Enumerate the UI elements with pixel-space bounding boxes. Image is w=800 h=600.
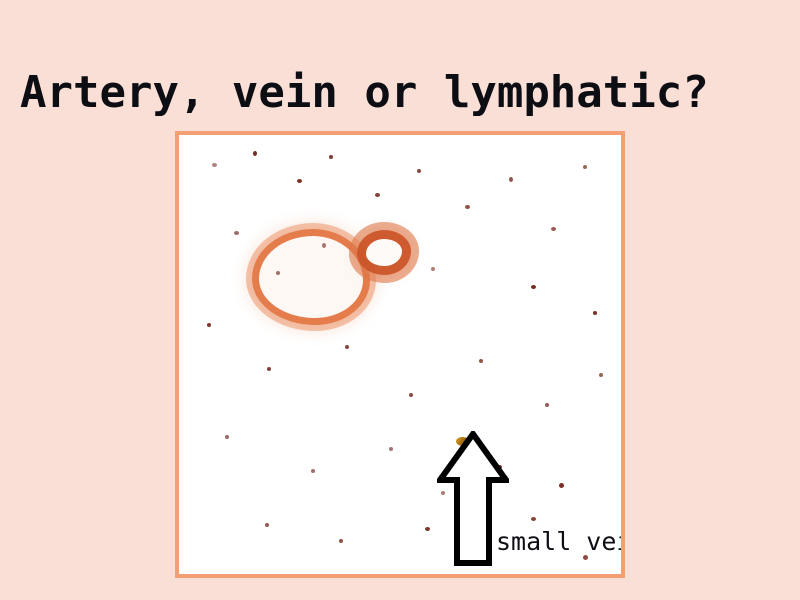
cell-nucleus	[465, 205, 470, 209]
micrograph-frame: small vein	[175, 131, 625, 578]
cell-nucleus	[207, 323, 211, 327]
cell-nucleus	[276, 271, 280, 275]
cell-nucleus	[431, 267, 435, 271]
cell-nucleus	[212, 163, 217, 167]
cell-nucleus	[417, 169, 421, 173]
cell-nucleus	[297, 179, 302, 183]
cell-nucleus	[593, 311, 597, 315]
cell-nucleus	[551, 227, 556, 231]
small-vein-label: small vein	[496, 528, 625, 556]
cell-nucleus	[409, 393, 413, 397]
cell-nucleus	[425, 527, 430, 531]
cell-nucleus	[375, 193, 380, 197]
cell-nucleus	[389, 447, 393, 451]
histology-micrograph-image	[179, 135, 621, 574]
cell-nucleus	[345, 345, 349, 349]
cell-nucleus	[267, 367, 271, 371]
cell-nucleus	[225, 435, 229, 439]
cell-nucleus	[531, 285, 536, 289]
cell-nucleus	[322, 243, 326, 248]
slide-canvas: Artery, vein or lymphatic? small vein	[0, 0, 800, 600]
cell-nucleus	[559, 483, 564, 488]
cell-nucleus	[265, 523, 269, 527]
cell-nucleus	[583, 165, 587, 169]
large-vein-lumen	[259, 236, 363, 318]
cell-nucleus	[311, 469, 315, 473]
cell-nucleus	[234, 231, 239, 235]
cell-nucleus	[329, 155, 333, 159]
cell-nucleus	[531, 517, 536, 521]
page-title: Artery, vein or lymphatic?	[20, 67, 790, 119]
cell-nucleus	[253, 151, 257, 156]
cell-nucleus	[599, 373, 603, 377]
small-artery-lumen	[366, 239, 402, 266]
cell-nucleus	[339, 539, 343, 543]
cell-nucleus	[479, 359, 483, 363]
cell-nucleus	[509, 177, 513, 182]
cell-nucleus	[545, 403, 549, 407]
